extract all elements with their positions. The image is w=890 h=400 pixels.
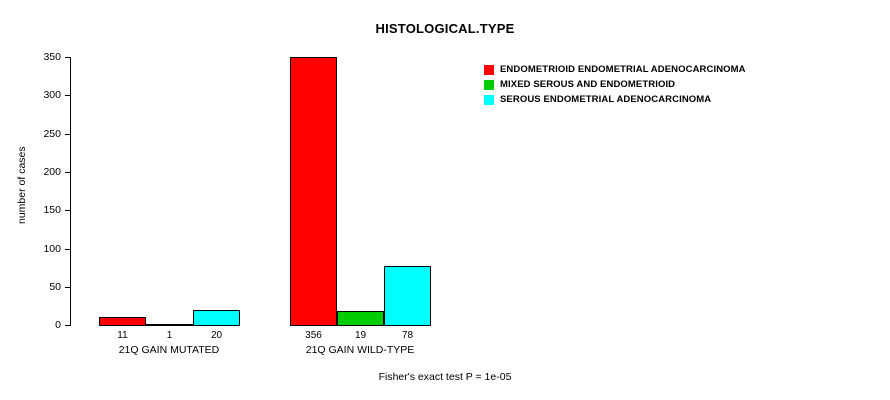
bar-value-group2-endometrioid: 356 bbox=[290, 330, 337, 341]
legend: ENDOMETRIOID ENDOMETRIAL ADENOCARCINOMA … bbox=[484, 63, 814, 108]
legend-label: SEROUS ENDOMETRIAL ADENOCARCINOMA bbox=[500, 94, 711, 105]
y-tick-0 bbox=[65, 325, 70, 326]
y-tick-150 bbox=[65, 210, 70, 211]
legend-item-serous: SEROUS ENDOMETRIAL ADENOCARCINOMA bbox=[484, 93, 814, 106]
y-tick-label-350: 350 bbox=[28, 51, 61, 63]
bar-value-group2-mixed: 19 bbox=[337, 330, 384, 341]
y-tick-label-150: 150 bbox=[28, 204, 61, 216]
legend-label: MIXED SEROUS AND ENDOMETRIOID bbox=[500, 79, 675, 90]
legend-swatch-icon bbox=[484, 65, 494, 75]
y-axis-line bbox=[70, 57, 71, 326]
y-tick-label-300: 300 bbox=[28, 89, 61, 101]
y-tick-label-200: 200 bbox=[28, 166, 61, 178]
bar-group2-mixed bbox=[337, 311, 384, 326]
bar-value-group1-mixed: 1 bbox=[146, 330, 193, 341]
y-tick-label-100: 100 bbox=[28, 243, 61, 255]
y-tick-350 bbox=[65, 57, 70, 58]
y-tick-250 bbox=[65, 134, 70, 135]
statistical-test-annotation: Fisher's exact test P = 1e-05 bbox=[0, 371, 890, 383]
bar-group1-endometrioid bbox=[99, 317, 146, 326]
group-label-mutated: 21Q GAIN MUTATED bbox=[79, 344, 259, 356]
bar-group1-mixed bbox=[146, 324, 193, 326]
plot-area: 0 50 100 150 200 250 300 350 number of c… bbox=[0, 0, 890, 400]
bar-group2-endometrioid bbox=[290, 57, 337, 326]
legend-swatch-icon bbox=[484, 80, 494, 90]
legend-item-endometrioid: ENDOMETRIOID ENDOMETRIAL ADENOCARCINOMA bbox=[484, 63, 814, 76]
y-tick-300 bbox=[65, 95, 70, 96]
bar-value-group2-serous: 78 bbox=[384, 330, 431, 341]
group-label-wild-type: 21Q GAIN WILD-TYPE bbox=[270, 344, 450, 356]
legend-swatch-icon bbox=[484, 95, 494, 105]
y-tick-200 bbox=[65, 172, 70, 173]
y-tick-100 bbox=[65, 249, 70, 250]
y-axis-title: number of cases bbox=[16, 146, 28, 224]
y-tick-50 bbox=[65, 287, 70, 288]
bar-value-group1-serous: 20 bbox=[193, 330, 240, 341]
legend-label: ENDOMETRIOID ENDOMETRIAL ADENOCARCINOMA bbox=[500, 64, 746, 75]
chart-root: HISTOLOGICAL.TYPE 0 50 100 150 200 250 3… bbox=[0, 0, 890, 400]
y-tick-label-50: 50 bbox=[28, 281, 61, 293]
legend-item-mixed: MIXED SEROUS AND ENDOMETRIOID bbox=[484, 78, 814, 91]
bar-value-group1-endometrioid: 11 bbox=[99, 330, 146, 341]
bar-group1-serous bbox=[193, 310, 240, 326]
y-tick-label-250: 250 bbox=[28, 128, 61, 140]
bar-group2-serous bbox=[384, 266, 431, 326]
y-tick-label-0: 0 bbox=[28, 319, 61, 331]
